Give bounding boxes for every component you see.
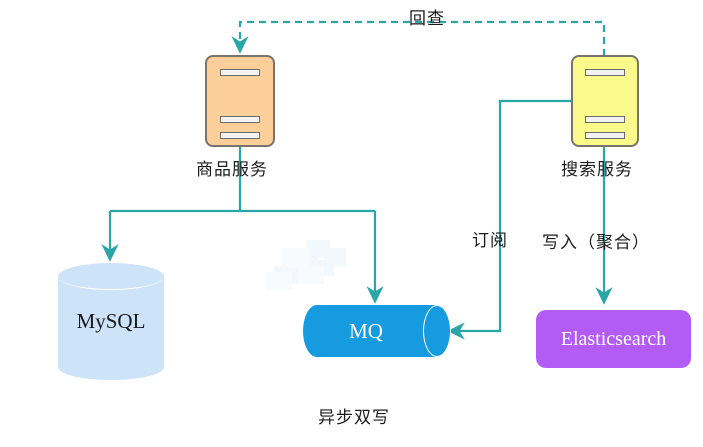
server-bar: [585, 69, 625, 76]
label-mq: MQ: [303, 305, 429, 357]
label-edge-write: 写入（聚合）: [542, 228, 650, 253]
watermark: [262, 236, 372, 316]
node-elasticsearch[interactable]: Elasticsearch: [536, 310, 691, 368]
node-mysql[interactable]: MySQL: [58, 263, 164, 380]
node-search-service[interactable]: [571, 55, 639, 147]
server-bar: [585, 132, 625, 139]
server-bar: [220, 69, 261, 76]
server-bar: [220, 132, 261, 139]
edge-subscribe-path: [449, 101, 571, 331]
node-mq[interactable]: MQ: [303, 305, 451, 357]
label-search-service: 搜索服务: [561, 155, 633, 180]
server-bar: [585, 116, 625, 123]
label-edge-subscribe: 订阅: [472, 226, 508, 251]
diagram-caption: 异步双写: [318, 403, 390, 428]
label-product-service: 商品服务: [196, 155, 268, 180]
node-product-service[interactable]: [205, 55, 275, 147]
label-mysql: MySQL: [58, 263, 164, 380]
label-edge-callback: 回查: [409, 4, 445, 29]
server-bar: [220, 116, 261, 123]
